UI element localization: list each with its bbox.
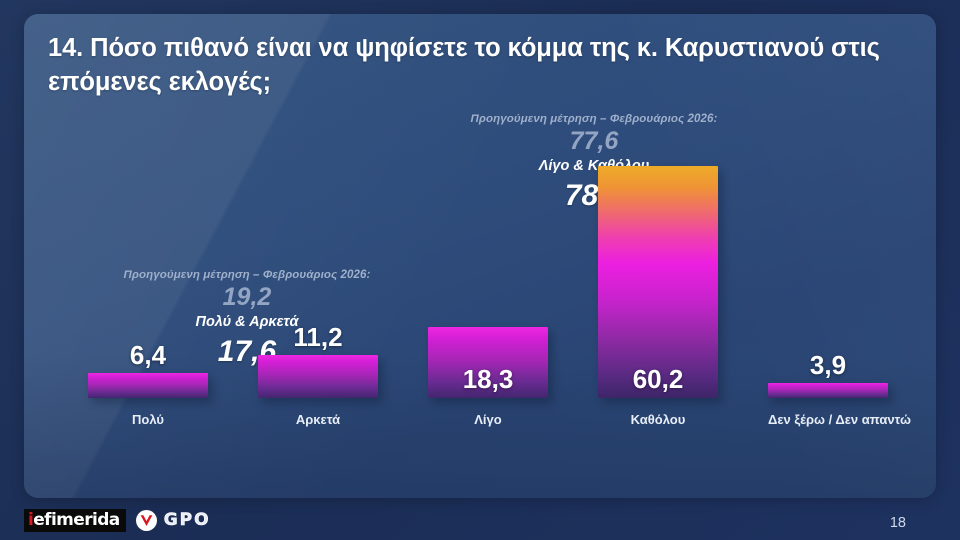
bar-value-label: 11,2 — [258, 324, 378, 350]
bar[interactable]: 3,9Δεν ξέρω / Δεν απαντώ — [768, 383, 888, 398]
bar[interactable]: 18,3Λίγο — [428, 327, 548, 398]
bar-chart-plot-area: 6,4Πολύ11,2Αρκετά18,3Λίγο60,2Καθόλου3,9Δ… — [24, 14, 936, 498]
bar-value-label: 3,9 — [768, 352, 888, 378]
bar-group: 3,9Δεν ξέρω / Δεν απαντώ — [743, 383, 913, 398]
gpo-logo[interactable]: GPO — [136, 510, 211, 531]
bar-category-label: Δεν ξέρω / Δεν απαντώ — [768, 412, 888, 427]
bar[interactable]: 60,2Καθόλου — [598, 166, 718, 398]
page-number: 18 — [890, 515, 906, 531]
bar[interactable]: 11,2Αρκετά — [258, 355, 378, 398]
bar-value-label: 18,3 — [428, 366, 548, 392]
slide-panel: 14. Πόσο πιθανό είναι να ψηφίσετε το κόμ… — [24, 14, 936, 498]
bar-category-label: Καθόλου — [598, 412, 718, 427]
bar-group: 11,2Αρκετά — [233, 355, 403, 398]
bar-group: 18,3Λίγο — [403, 327, 573, 398]
bar-value-label: 6,4 — [88, 342, 208, 368]
footer-logos: iefimerida GPO — [24, 509, 211, 532]
bar-value-label: 60,2 — [598, 366, 718, 392]
bar-category-label: Αρκετά — [258, 412, 378, 427]
gpo-chevron-icon — [136, 510, 157, 531]
iefimerida-logo-rest: efimerida — [33, 510, 119, 530]
bar-group: 60,2Καθόλου — [573, 166, 743, 398]
gpo-logo-text: GPO — [164, 510, 211, 530]
bar-group: 6,4Πολύ — [63, 373, 233, 398]
bar-category-label: Πολύ — [88, 412, 208, 427]
bar-category-label: Λίγο — [428, 412, 548, 427]
bar[interactable]: 6,4Πολύ — [88, 373, 208, 398]
iefimerida-logo[interactable]: iefimerida — [24, 509, 126, 532]
